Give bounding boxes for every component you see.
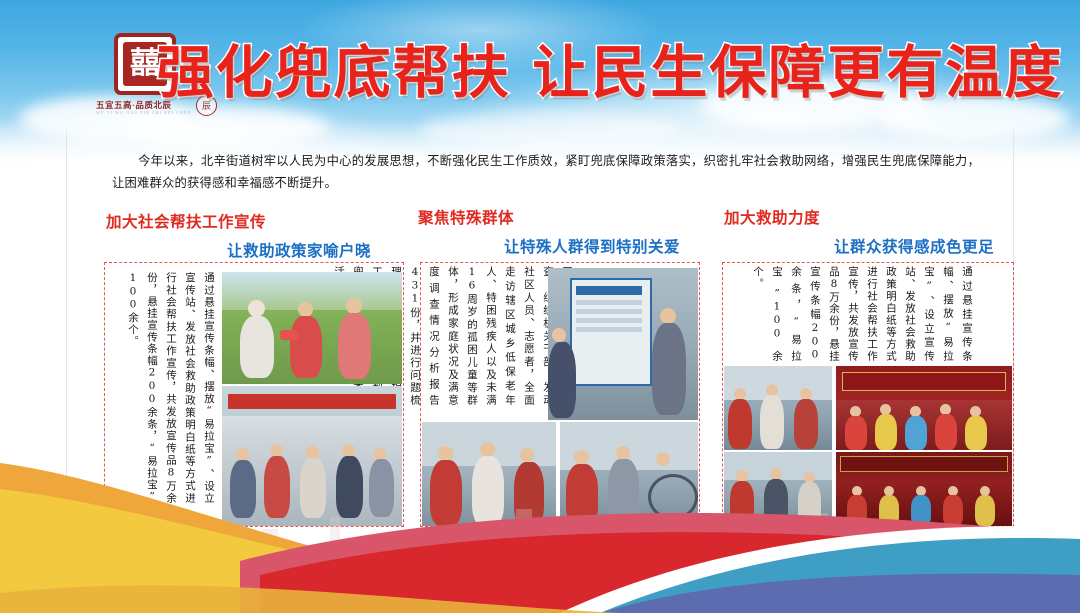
heading-2-line-2: 让特殊人群得到特别关爱	[418, 235, 680, 257]
decorative-waves	[0, 443, 1080, 613]
photo-banner	[228, 394, 396, 409]
logo-pinyin: WU YI WU GAO PIN ZHI BEI CHEN	[96, 110, 196, 115]
poster-root: 囍 五宜五高·品质北辰 WU YI WU GAO PIN ZHI BEI CHE…	[0, 0, 1080, 613]
photo-col1-1	[222, 272, 402, 384]
photo-col3-1	[724, 366, 832, 450]
photo-col2-1	[548, 268, 698, 420]
poster-title: 强化兜底帮扶 让民生保障更有温度	[200, 27, 1020, 109]
section-heading-3: 加大救助力度 让群众获得感成色更足	[724, 206, 994, 257]
intro-paragraph: 今年以来，北辛街道树牢以人民为中心的发展思想，不断强化民生工作质效，紧盯兜底保障…	[112, 150, 980, 194]
section-heading-2: 聚焦特殊群体 让特殊人群得到特别关爱	[418, 206, 680, 257]
heading-1-line-1: 加大社会帮扶工作宣传	[106, 210, 371, 232]
column-3-body: 通过悬挂宣传条幅、摆放“易拉宝”、设立宣传站、发放社会救助政策明白纸等方式进行社…	[746, 266, 976, 362]
heading-3-line-1: 加大救助力度	[724, 206, 994, 228]
section-heading-1: 加大社会帮扶工作宣传 让救助政策家喻户晓	[106, 210, 371, 261]
heading-3-line-2: 让群众获得感成色更足	[724, 235, 994, 257]
cloud-decoration	[420, 110, 680, 150]
heading-2-line-1: 聚焦特殊群体	[418, 206, 680, 228]
heading-1-line-2: 让救助政策家喻户晓	[106, 239, 371, 261]
intro-text: 今年以来，北辛街道树牢以人民为中心的发展思想，不断强化民生工作质效，紧盯兜底保障…	[112, 154, 980, 190]
photo-col3-3	[836, 366, 1012, 450]
